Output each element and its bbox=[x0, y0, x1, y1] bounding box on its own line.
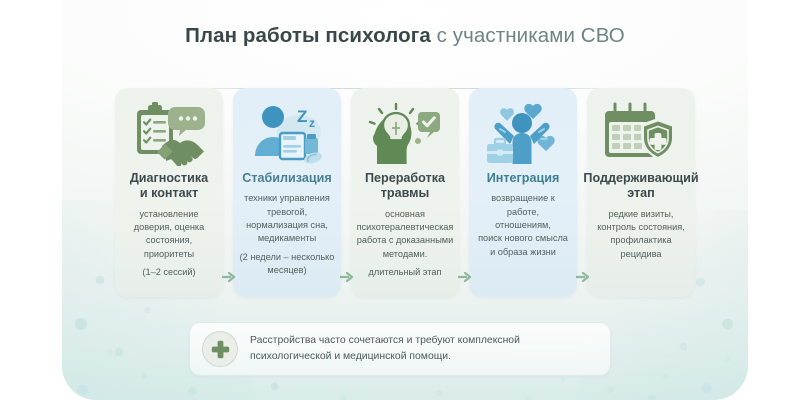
step-card-integration[interactable]: Интеграция возвращение к работе, отношен… bbox=[469, 88, 577, 297]
step-duration: длительный этап bbox=[357, 266, 454, 279]
calendar-shield-plus-icon bbox=[601, 98, 681, 170]
clipboard-checklist-handshake-icon bbox=[129, 98, 209, 170]
title-light: с участниками СВО bbox=[437, 24, 625, 47]
person-sleep-medication-icon: Z z bbox=[247, 98, 327, 170]
footer-note-text: Расстройства часто сочетаются и требуют … bbox=[250, 333, 534, 365]
step-description: техники управления тревогой, нормализаци… bbox=[236, 192, 338, 277]
svg-text:Z: Z bbox=[297, 107, 307, 126]
step-card-diagnostics[interactable]: Диагностика и контакт установление довер… bbox=[115, 88, 223, 297]
step-card-stabilization[interactable]: Z z Стабилизация bbox=[233, 88, 341, 297]
title-strong: План работы психолога bbox=[185, 24, 431, 47]
person-arms-up-hearts-briefcase-icon bbox=[483, 98, 563, 170]
arrow-right-icon-1 bbox=[222, 271, 238, 283]
step-description: основная психотералевтическая работа с д… bbox=[355, 208, 456, 280]
arrow-right-icon-2 bbox=[340, 271, 356, 283]
step-title: Интеграция bbox=[485, 171, 562, 186]
arrow-right-icon-3 bbox=[458, 271, 474, 283]
step-description: установление доверия, оценка состояния, … bbox=[118, 208, 220, 280]
infographic-canvas: План работы психолога с участниками СВО bbox=[0, 0, 800, 400]
step-card-trauma-processing[interactable]: Переработка травмы основная психотералев… bbox=[351, 88, 459, 297]
step-duration: (1–2 сессий) bbox=[120, 266, 218, 279]
footer-note: Расстройства часто сочетаются и требуют … bbox=[189, 322, 611, 376]
head-lightbulb-check-icon bbox=[365, 98, 445, 170]
page-title: План работы психолога с участниками СВО bbox=[62, 26, 748, 47]
svg-text:z: z bbox=[309, 116, 315, 130]
step-description: редкие визиты, контроль состояния, профи… bbox=[595, 208, 687, 261]
step-duration: (2 недели – несколько месяцев) bbox=[238, 251, 336, 278]
step-title: Стабилизация bbox=[240, 171, 333, 186]
steps-row: Диагностика и контакт установление довер… bbox=[0, 88, 800, 298]
step-title: Поддерживающий этап bbox=[581, 171, 700, 202]
step-description: возвращение к работе, отношениям, поиск … bbox=[472, 192, 574, 259]
step-card-maintenance[interactable]: Поддерживающий этап редкие визиты, контр… bbox=[587, 88, 695, 297]
medical-cross-icon bbox=[202, 331, 238, 367]
arrow-right-icon-4 bbox=[576, 271, 592, 283]
step-title: Диагностика и контакт bbox=[128, 171, 210, 202]
step-title: Переработка травмы bbox=[363, 171, 447, 202]
